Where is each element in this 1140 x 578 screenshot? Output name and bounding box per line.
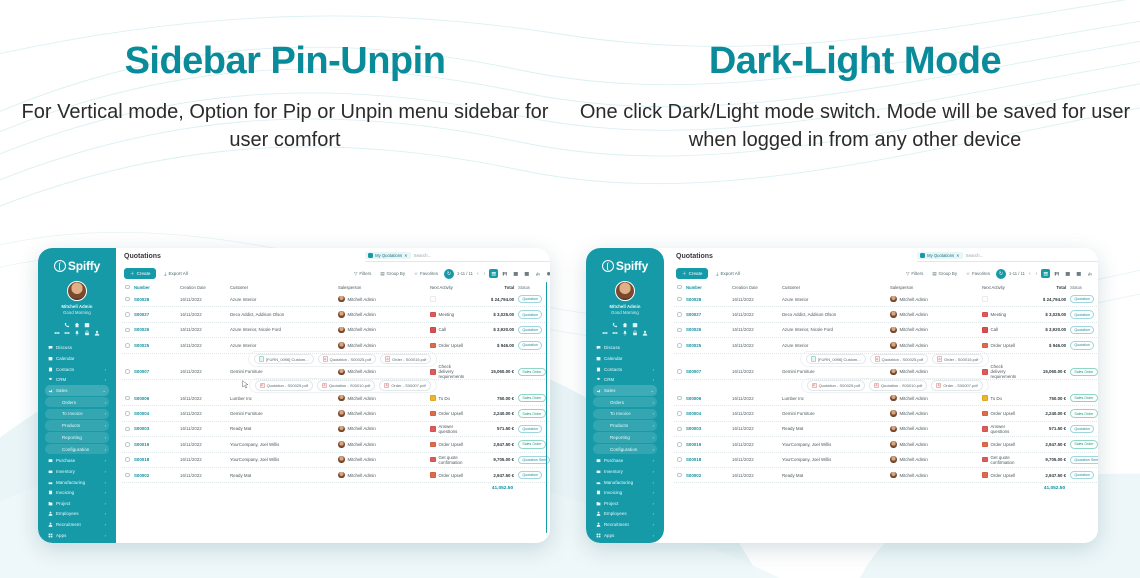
activity-icon (982, 395, 988, 401)
sidebar-item-orders[interactable]: Orders› (593, 397, 657, 408)
table-row[interactable]: S00028 16/11/2022 Azure Interior Mitchel… (122, 292, 550, 307)
pager-next-icon[interactable]: › (483, 271, 487, 277)
filters-button[interactable]: ▽ Filters (903, 269, 926, 279)
row-customer: Lumber Inc (782, 396, 890, 401)
attachment-chip[interactable]: A Order - S00007.pdf (931, 380, 982, 391)
avatar[interactable] (615, 281, 635, 301)
facet-remove-icon[interactable]: ✕ (404, 253, 408, 258)
row-next-activity[interactable]: Meeting (982, 312, 1016, 318)
activity-icon (430, 442, 436, 448)
sidebar-item-products[interactable]: Products› (45, 420, 109, 431)
row-next-activity[interactable]: Order Upsell (982, 411, 1016, 417)
row-number[interactable]: S00002 (686, 473, 732, 478)
row-next-activity[interactable]: To Do (430, 395, 464, 401)
sidebar-item-inventory[interactable]: Inventory› (45, 466, 109, 477)
sidebar-menu[interactable]: Discuss Calendar Contacts› CRM› Sales⌄Or… (590, 343, 660, 543)
pager-next-icon[interactable]: › (1035, 271, 1039, 277)
row-checkbox[interactable] (677, 343, 686, 348)
pdf-icon: A (323, 356, 328, 362)
chevron-icon: › (105, 423, 106, 428)
row-next-activity[interactable]: Check delivery requirements (982, 364, 1016, 379)
sidebar-item-contacts[interactable]: Contacts› (45, 364, 109, 375)
chevron-icon: › (105, 501, 106, 506)
attachment-chip[interactable]: A Quotation - S00025.pdf (318, 354, 376, 365)
row-total: 2,947.50 € (1016, 473, 1070, 478)
star-icon: ☆ (414, 271, 418, 277)
table-row[interactable]: S00019 16/11/2022 YourCompany, Joel Will… (122, 437, 550, 452)
row-checkbox[interactable] (125, 297, 134, 302)
table-row[interactable]: S00006 16/11/2022 Lumber Inc Mitchell Ad… (674, 391, 1098, 406)
row-checkbox[interactable] (677, 297, 686, 302)
sidebar-item-apps[interactable]: Apps› (593, 530, 657, 541)
pin-icon[interactable] (74, 330, 80, 336)
pager-label[interactable]: 1-11 / 11 (457, 271, 473, 276)
sidebar-item-configuration[interactable]: Configuration› (593, 444, 657, 455)
sidebar-quick-icons-2[interactable] (42, 330, 112, 336)
graph-view-button[interactable] (1085, 269, 1094, 278)
group-by-button[interactable]: ▤ Group By (929, 269, 960, 279)
sidebar-item-calendar[interactable]: Calendar (45, 353, 109, 364)
pdf-icon: A (384, 383, 389, 389)
column-header[interactable]: Creation Date (180, 285, 230, 290)
row-salesperson: Mitchell Admin (890, 410, 982, 417)
calendar-icon[interactable] (632, 322, 638, 328)
sidebar-item-label: Contacts (56, 367, 102, 372)
panel-sidebar-pin-unpin: Sidebar Pin-Unpin For Vertical mode, Opt… (0, 40, 570, 154)
sidebar-item-label: Manufacturing (604, 480, 650, 485)
sidebar-item-project[interactable]: Project› (45, 498, 109, 509)
column-header[interactable]: Creation Date (732, 285, 782, 290)
row-number[interactable]: S00006 (686, 396, 732, 401)
row-next-activity[interactable]: Order Upsell (430, 411, 464, 417)
pivot-view-button[interactable] (522, 269, 531, 278)
attachment-chip[interactable]: [FURN_0096] Custom... (254, 354, 314, 365)
status-badge-label: Quotation (1070, 341, 1094, 349)
row-number[interactable]: S00019 (686, 442, 732, 447)
calendar-icon (48, 356, 53, 361)
create-button[interactable]: ＋ Create (676, 268, 708, 279)
graph-view-button[interactable] (533, 269, 542, 278)
sidebar-item-recruitment[interactable]: Recruitment› (45, 519, 109, 530)
column-header[interactable]: Customer (782, 285, 890, 290)
row-next-activity[interactable]: Order Upsell (430, 472, 464, 478)
search-bar[interactable]: My Quotations ✕ Search... ⚙ (917, 252, 1098, 262)
sidebar-item-inventory[interactable]: Inventory› (593, 466, 657, 477)
attachment-row: [FURN_0096] Custom... A Quotation - S000… (122, 354, 550, 365)
table-row[interactable]: S00003 16/11/2022 Ready Mat Mitchell Adm… (122, 422, 550, 437)
sidebar-item-sales[interactable]: Sales⌄ (45, 385, 109, 396)
sidebar-item-label: Apps (604, 533, 650, 538)
column-header[interactable]: Number (686, 285, 732, 290)
sidebar-item-project[interactable]: Project› (593, 498, 657, 509)
column-header[interactable]: Next Activity (430, 285, 464, 290)
column-header[interactable]: Number (134, 285, 180, 290)
star-icon: ☆ (966, 271, 970, 277)
activity-icon (982, 327, 988, 333)
chevron-icon: › (653, 435, 654, 440)
row-checkbox[interactable] (125, 457, 134, 462)
table-row[interactable]: S00006 16/11/2022 Lumber Inc Mitchell Ad… (122, 391, 550, 406)
select-all-checkbox[interactable] (677, 285, 686, 290)
sidebar-item-label: CRM (604, 377, 650, 382)
sidebar-item-settings[interactable]: Settings› (593, 540, 657, 543)
calendar-view-button[interactable] (1063, 269, 1072, 278)
home-icon[interactable] (74, 322, 80, 328)
sidebar-item-purchase[interactable]: Purchase› (45, 456, 109, 467)
row-checkbox[interactable] (677, 457, 686, 462)
attachment-label: Quotation - S00025.pdf (819, 383, 860, 388)
list-view-button[interactable] (489, 269, 498, 278)
row-number[interactable]: S00003 (686, 426, 732, 431)
row-customer: Deco Addict, Addison Olson (782, 312, 890, 317)
attachment-chip[interactable]: A Order - S00007.pdf (379, 380, 430, 391)
filter-icon: ▽ (906, 271, 909, 277)
attachment-chip[interactable]: A Quotation - S00025.pdf (255, 380, 313, 391)
sidebar-item-products[interactable]: Products› (593, 420, 657, 431)
sidebar-item-reporting[interactable]: Reporting› (45, 432, 109, 443)
row-number[interactable]: S00018 (134, 457, 180, 462)
link2-icon[interactable] (612, 330, 618, 336)
table-header-row: NumberCreation DateCustomerSalespersonNe… (122, 282, 550, 292)
attachment-chip[interactable]: A Quotation - S00010.pdf (317, 380, 375, 391)
row-number[interactable]: S00028 (686, 297, 732, 302)
row-next-activity[interactable]: Order Upsell (430, 442, 464, 448)
row-number[interactable]: S00026 (686, 327, 732, 332)
create-button[interactable]: ＋ Create (124, 268, 156, 279)
row-checkbox[interactable] (125, 442, 134, 447)
row-next-activity[interactable]: Get quote confirmation (430, 455, 464, 465)
table-row[interactable]: S00003 16/11/2022 Ready Mat Mitchell Adm… (674, 422, 1098, 437)
status-badge-label: Quotation (518, 471, 542, 479)
sidebar-item-recruitment[interactable]: Recruitment› (593, 519, 657, 530)
sidebar-item-label: Manufacturing (56, 480, 102, 485)
row-checkbox[interactable] (125, 396, 134, 401)
row-checkbox[interactable] (125, 369, 134, 374)
refresh-button[interactable]: ↻ (444, 269, 454, 279)
row-salesperson: Mitchell Admin (890, 327, 982, 334)
row-creation-date: 16/11/2022 (180, 343, 230, 348)
sidebar-item-calendar[interactable]: Calendar (593, 353, 657, 364)
row-creation-date: 16/11/2022 (180, 442, 230, 447)
calendar-view-button[interactable] (511, 269, 520, 278)
sidebar-item-employees[interactable]: Employees› (593, 509, 657, 520)
favorites-button[interactable]: ☆ Favorites (963, 269, 993, 279)
row-customer: YourCompany, Joel Willis (782, 457, 890, 462)
sidebar-item-crm[interactable]: CRM› (593, 374, 657, 385)
sidebar-item-to-invoice[interactable]: To Invoice› (45, 409, 109, 420)
table-row[interactable]: S00028 16/11/2022 Azure Interior Mitchel… (674, 292, 1098, 307)
attachment-chip[interactable]: [FURN_0096] Custom... (806, 354, 866, 365)
sidebar-quick-icons[interactable] (42, 322, 112, 328)
favorites-button[interactable]: ☆ Favorites (411, 269, 441, 279)
row-salesperson: Mitchell Admin (890, 311, 982, 318)
search-facet-label: My Quotations (927, 253, 954, 258)
row-customer: Deco Addict, Addison Olson (230, 312, 338, 317)
sidebar-item-employees[interactable]: Employees› (45, 509, 109, 520)
row-checkbox[interactable] (677, 473, 686, 478)
pager-prev-icon[interactable]: ‹ (1028, 271, 1032, 277)
chevron-icon: › (105, 490, 106, 495)
activity-icon (430, 457, 436, 463)
row-next-activity[interactable]: Order Upsell (430, 343, 464, 349)
sidebar-item-label: Sales (56, 388, 100, 393)
row-checkbox[interactable] (677, 411, 686, 416)
sidebar-item-invoicing[interactable]: Invoicing› (45, 487, 109, 498)
sidebar-item-orders[interactable]: Orders› (45, 397, 109, 408)
row-number[interactable]: S00025 (134, 343, 180, 348)
link-icon[interactable] (602, 330, 608, 336)
table-row[interactable]: S00004 16/11/2022 Gemini Furniture Mitch… (674, 406, 1098, 421)
column-header[interactable]: Total (1016, 285, 1070, 290)
view-switcher[interactable] (1041, 269, 1098, 278)
search-facet[interactable]: My Quotations ✕ (365, 252, 411, 259)
row-next-activity[interactable]: Get quote confirmation (982, 455, 1016, 465)
salesperson-avatar (338, 410, 345, 417)
app-logo[interactable]: Spiffy (590, 254, 660, 279)
row-next-activity[interactable] (982, 296, 1016, 302)
row-next-activity[interactable] (430, 296, 464, 302)
salesperson-avatar (890, 369, 897, 376)
pivot-view-button[interactable] (1074, 269, 1083, 278)
column-header[interactable]: Status (1070, 285, 1098, 290)
table-row[interactable]: S00002 16/11/2022 Ready Mat Mitchell Adm… (674, 468, 1098, 483)
salesperson-avatar (890, 311, 897, 318)
pin-icon[interactable] (622, 330, 628, 336)
salesperson-avatar (338, 369, 345, 376)
column-header[interactable]: Salesperson (338, 285, 430, 290)
row-next-activity[interactable]: Order Upsell (982, 442, 1016, 448)
row-creation-date: 16/11/2022 (732, 343, 782, 348)
activity-view-button[interactable] (1096, 269, 1098, 278)
column-header[interactable]: Customer (230, 285, 338, 290)
row-checkbox[interactable] (677, 427, 686, 432)
lock-icon[interactable] (632, 330, 638, 336)
person-icon[interactable] (94, 330, 100, 336)
search-input[interactable]: Search... (414, 253, 432, 258)
activity-label: Check delivery requirements (991, 364, 1017, 379)
row-number[interactable]: S00006 (134, 396, 180, 401)
facet-remove-icon[interactable]: ✕ (956, 253, 960, 258)
sidebar-item-configuration[interactable]: Configuration› (45, 444, 109, 455)
list-view-button[interactable] (1041, 269, 1050, 278)
row-creation-date: 16/11/2022 (180, 457, 230, 462)
attachment-chip[interactable]: A Quotation - S00025.pdf (807, 380, 865, 391)
row-next-activity[interactable]: Call (430, 327, 464, 333)
avatar[interactable] (67, 281, 87, 301)
row-checkbox[interactable] (125, 427, 134, 432)
groupby-label: Group By (938, 271, 957, 276)
row-customer: Azure Interior (782, 343, 890, 348)
sidebar-item-discuss[interactable]: Discuss (45, 343, 109, 354)
chevron-icon: › (653, 423, 654, 428)
row-customer: Gemini Furniture (230, 411, 338, 416)
sidebar-item-crm[interactable]: CRM› (45, 374, 109, 385)
create-label: Create (689, 271, 703, 276)
row-number[interactable]: S00018 (686, 457, 732, 462)
status-badge: Sales Order (1070, 394, 1098, 402)
home-icon[interactable] (622, 322, 628, 328)
attachment-chip-group: [FURN_0096] Custom... A Quotation - S000… (800, 351, 989, 367)
attachment-chip[interactable]: A Order - S00015.pdf (932, 354, 983, 365)
row-checkbox[interactable] (125, 328, 134, 333)
sidebar-quick-icons[interactable] (590, 322, 660, 328)
salesperson-name: Mitchell Admin (348, 442, 376, 447)
select-all-checkbox[interactable] (125, 285, 134, 290)
column-header[interactable]: Total (464, 285, 518, 290)
app-window-left: Spiffy Mitchell Admin Good Morning Discu… (38, 248, 550, 543)
attachment-chip[interactable]: A Quotation - S00025.pdf (870, 354, 928, 365)
sidebar-item-manufacturing[interactable]: Manufacturing› (593, 477, 657, 488)
row-number[interactable]: S00026 (134, 327, 180, 332)
quotations-table: NumberCreation DateCustomerSalespersonNe… (668, 282, 1098, 543)
row-total: $ 3,920.00 (1016, 327, 1070, 332)
link-icon[interactable] (54, 330, 60, 336)
sidebar-item-apps[interactable]: Apps› (45, 530, 109, 541)
sidebar-item-to-invoice[interactable]: To Invoice› (593, 409, 657, 420)
sidebar-item-reporting[interactable]: Reporting› (593, 432, 657, 443)
activity-icon (982, 457, 988, 463)
group-icon: ▤ (380, 271, 384, 277)
row-checkbox[interactable] (677, 396, 686, 401)
sidebar-item-purchase[interactable]: Purchase› (593, 456, 657, 467)
row-number[interactable]: S00025 (686, 343, 732, 348)
row-next-activity[interactable]: To Do (982, 395, 1016, 401)
row-customer: Ready Mat (230, 473, 338, 478)
activity-icon (982, 472, 988, 478)
attachment-label: Quotation - S00025.pdf (267, 383, 308, 388)
row-next-activity[interactable]: Order Upsell (982, 472, 1016, 478)
row-next-activity[interactable]: Answer questions (982, 424, 1016, 434)
calendar-icon[interactable] (84, 322, 90, 328)
attachment-chip-group: A Quotation - S00025.pdf A Quotation - S… (249, 378, 437, 394)
sidebar-item-label: Calendar (604, 356, 651, 361)
row-number[interactable]: S00027 (134, 312, 180, 317)
row-customer: Gemini Furniture (782, 369, 890, 374)
person-icon[interactable] (642, 330, 648, 336)
sidebar-item-label: Reporting (62, 435, 102, 440)
table-row[interactable]: S00018 16/11/2022 YourCompany, Joel Will… (674, 453, 1098, 468)
sidebar-item-label: Project (56, 501, 102, 506)
row-number[interactable]: S00027 (686, 312, 732, 317)
row-checkbox[interactable] (677, 442, 686, 447)
status-badge-label: Quotation (518, 326, 542, 334)
row-salesperson: Mitchell Admin (338, 369, 430, 376)
row-next-activity[interactable]: Check delivery requirements (430, 364, 464, 379)
row-total: $ 3,920.00 (464, 327, 518, 332)
status-badge-label: Quotation Sent (1070, 456, 1098, 464)
table-row[interactable]: S00027 16/11/2022 Deco Addict, Addison O… (122, 307, 550, 322)
row-next-activity[interactable]: Answer questions (430, 424, 464, 434)
phone-icon[interactable] (612, 322, 618, 328)
table-row[interactable]: S00027 16/11/2022 Deco Addict, Addison O… (674, 307, 1098, 322)
sidebar-menu[interactable]: Discuss Calendar Contacts› CRM› Sales⌄Or… (42, 343, 112, 543)
attachment-chip[interactable]: A Quotation - S00010.pdf (869, 380, 927, 391)
export-all-button[interactable]: ⤓ Export All (712, 269, 743, 278)
status-badge-label: Sales Order (518, 368, 546, 376)
row-number[interactable]: S00007 (686, 369, 732, 374)
app-logo[interactable]: Spiffy (42, 254, 112, 279)
inventory-icon (48, 469, 53, 474)
sidebar-item-contacts[interactable]: Contacts› (593, 364, 657, 375)
export-all-button[interactable]: ⤓ Export All (160, 269, 191, 278)
search-input[interactable]: Search... (966, 253, 984, 258)
attachment-label: [FURN_0096] Custom... (818, 357, 861, 362)
table-row[interactable]: S00019 16/11/2022 YourCompany, Joel Will… (674, 437, 1098, 452)
search-facet[interactable]: My Quotations ✕ (917, 252, 963, 259)
filters-button[interactable]: ▽ Filters (351, 269, 374, 279)
row-number[interactable]: S00004 (134, 411, 180, 416)
refresh-button[interactable]: ↻ (996, 269, 1006, 279)
sidebar-item-manufacturing[interactable]: Manufacturing› (45, 477, 109, 488)
row-number[interactable]: S00004 (686, 411, 732, 416)
sidebar-item-discuss[interactable]: Discuss (593, 343, 657, 354)
sidebar-item-settings[interactable]: Settings› (45, 540, 109, 543)
row-checkbox[interactable] (677, 369, 686, 374)
activity-icon (982, 442, 988, 448)
row-checkbox[interactable] (677, 328, 686, 333)
row-next-activity[interactable]: Meeting (430, 312, 464, 318)
activity-view-button[interactable] (544, 269, 550, 278)
column-header[interactable]: Salesperson (890, 285, 982, 290)
row-number[interactable]: S00002 (134, 473, 180, 478)
pager-label[interactable]: 1-11 / 11 (1009, 271, 1025, 276)
table-row[interactable]: S00002 16/11/2022 Ready Mat Mitchell Adm… (122, 468, 550, 483)
row-next-activity[interactable]: Call (982, 327, 1016, 333)
row-number[interactable]: S00028 (134, 297, 180, 302)
search-bar[interactable]: My Quotations ✕ Search... ⚙ (365, 252, 550, 262)
kanban-view-button[interactable] (500, 269, 509, 278)
sidebar-item-sales[interactable]: Sales⌄ (593, 385, 657, 396)
pager-prev-icon[interactable]: ‹ (476, 271, 480, 277)
status-badge-label: Sales Order (518, 409, 546, 417)
row-checkbox[interactable] (125, 411, 134, 416)
attachment-chip[interactable]: A Order - S00015.pdf (380, 354, 431, 365)
table-row[interactable]: S00026 16/11/2022 Azure Interior, Nicole… (674, 323, 1098, 338)
view-switcher[interactable] (489, 269, 550, 278)
chevron-icon: › (105, 411, 106, 416)
salesperson-avatar (890, 426, 897, 433)
status-badge-label: Quotation (1070, 295, 1094, 303)
activity-icon (430, 426, 436, 432)
kanban-view-button[interactable] (1052, 269, 1061, 278)
sidebar: Spiffy Mitchell Admin Good Morning Discu… (38, 248, 116, 543)
attachment-label: Quotation - S00025.pdf (882, 357, 923, 362)
calendar-view-icon (1065, 271, 1071, 277)
row-checkbox[interactable] (125, 473, 134, 478)
link2-icon[interactable] (64, 330, 70, 336)
row-number[interactable]: S00003 (134, 426, 180, 431)
lock-icon[interactable] (84, 330, 90, 336)
row-checkbox[interactable] (677, 312, 686, 317)
row-number[interactable]: S00019 (134, 442, 180, 447)
table-row[interactable]: S00018 16/11/2022 YourCompany, Joel Will… (122, 453, 550, 468)
row-checkbox[interactable] (125, 343, 134, 348)
table-row[interactable]: S00004 16/11/2022 Gemini Furniture Mitch… (122, 406, 550, 421)
status-badge-label: Quotation (1070, 471, 1094, 479)
activity-label: Order Upsell (439, 473, 464, 478)
column-header[interactable]: Next Activity (982, 285, 1016, 290)
row-checkbox[interactable] (125, 312, 134, 317)
sidebar-item-invoicing[interactable]: Invoicing› (593, 487, 657, 498)
row-next-activity[interactable]: Order Upsell (982, 343, 1016, 349)
salesperson-name: Mitchell Admin (348, 411, 376, 416)
row-number[interactable]: S00007 (134, 369, 180, 374)
phone-icon[interactable] (64, 322, 70, 328)
sidebar-quick-icons-2[interactable] (590, 330, 660, 336)
group-by-button[interactable]: ▤ Group By (377, 269, 408, 279)
table-row[interactable]: S00026 16/11/2022 Azure Interior, Nicole… (122, 323, 550, 338)
activity-label: To Do (991, 396, 1002, 401)
